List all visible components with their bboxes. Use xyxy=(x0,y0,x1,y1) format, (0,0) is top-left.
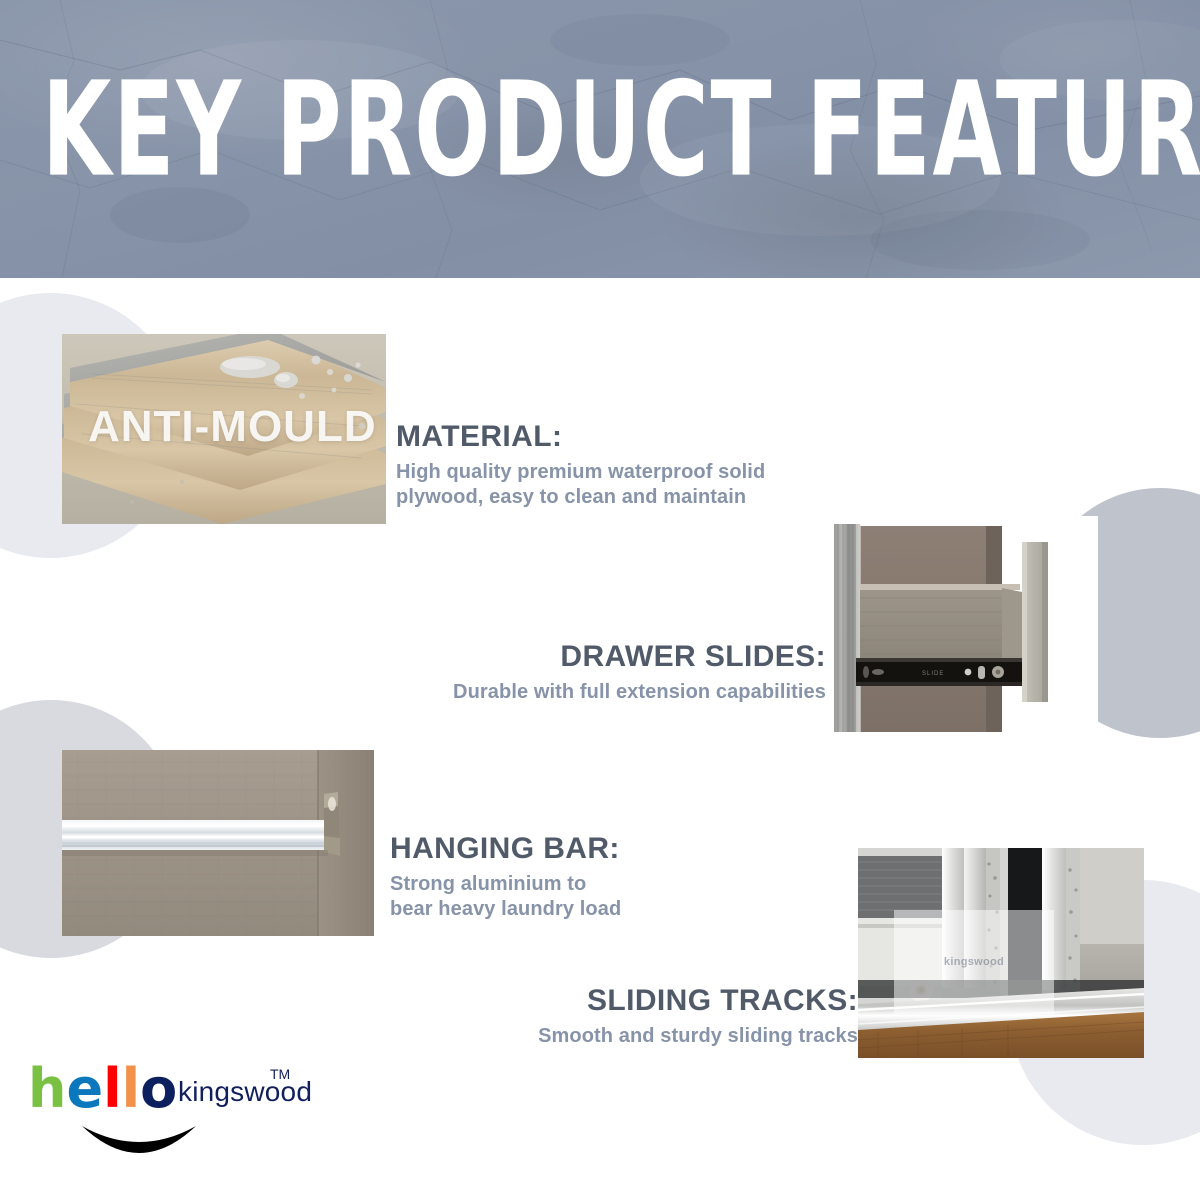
feature-body-material-line1: High quality premium waterproof solid xyxy=(396,460,866,486)
logo-letter-e: e xyxy=(66,1064,103,1114)
feature-body-hanging-bar-line1: Strong aluminium to xyxy=(390,872,720,898)
image-watermark: kingswood xyxy=(894,910,1054,1014)
smile-icon xyxy=(76,1122,202,1166)
anti-mould-overlay-label: ANTI-MOULD xyxy=(88,402,377,452)
feature-heading-hanging-bar: HANGING BAR: xyxy=(390,832,720,866)
feature-text-material: MATERIAL: High quality premium waterproo… xyxy=(396,420,866,511)
hanging-bar-photo xyxy=(62,750,374,936)
drawer-slide-photo: SLIDE xyxy=(826,516,1098,738)
feature-body-material-line2: plywood, easy to clean and maintain xyxy=(396,485,866,511)
feature-heading-drawer-slides: DRAWER SLIDES: xyxy=(368,640,826,674)
brand-logo[interactable]: h e l l o kingswood TM xyxy=(28,1062,298,1170)
feature-body-drawer-slides: Durable with full extension capabilities xyxy=(368,680,826,706)
feature-text-drawer-slides: DRAWER SLIDES: Durable with full extensi… xyxy=(368,640,826,705)
feature-heading-sliding-tracks: SLIDING TRACKS: xyxy=(490,984,858,1018)
feature-text-sliding-tracks: SLIDING TRACKS: Smooth and sturdy slidin… xyxy=(490,984,858,1049)
page-title: KEY PRODUCT FEATURES xyxy=(42,66,1158,197)
sliding-tracks-photo: kingswood xyxy=(858,848,1144,1058)
logo-trademark: TM xyxy=(270,1066,290,1082)
feature-text-hanging-bar: HANGING BAR: Strong aluminium to bear he… xyxy=(390,832,720,923)
drawer-slide-illustration-icon: SLIDE xyxy=(826,516,1098,738)
logo-letter-h: h xyxy=(28,1064,66,1114)
logo-letter-o: o xyxy=(140,1064,177,1114)
poster-canvas: KEY PRODUCT FEATURES xyxy=(0,0,1200,1200)
hanging-bar-illustration-icon xyxy=(62,750,374,936)
logo-letter-l-orange: l xyxy=(122,1064,141,1114)
feature-body-hanging-bar-line2: bear heavy laundry load xyxy=(390,897,720,923)
header-band: KEY PRODUCT FEATURES xyxy=(0,0,1200,278)
feature-body-sliding-tracks: Smooth and sturdy sliding tracks xyxy=(490,1024,858,1050)
logo-letter-l-red: l xyxy=(103,1064,122,1114)
logo-brand-name: kingswood xyxy=(178,1076,312,1108)
svg-text:SLIDE: SLIDE xyxy=(922,671,944,677)
feature-heading-material: MATERIAL: xyxy=(396,420,866,454)
logo-wordmark: h e l l o xyxy=(28,1062,177,1114)
